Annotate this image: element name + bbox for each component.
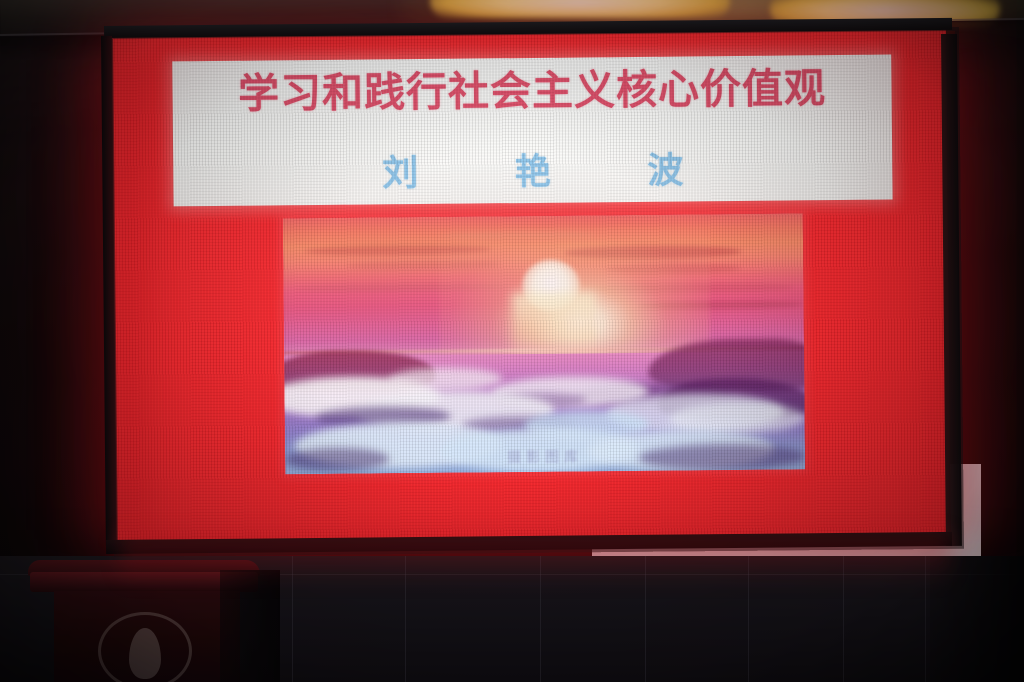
ceiling-light-left bbox=[430, 0, 730, 18]
led-display-screen[interactable]: 学习和践行社会主义核心价值观 刘 艳 波 bbox=[111, 28, 951, 544]
institution-flame-emblem bbox=[98, 612, 192, 682]
red-light-spill-left bbox=[40, 60, 150, 530]
lectern-shadow bbox=[220, 570, 280, 682]
slide-photo-frame: 摄影图库 bbox=[283, 213, 805, 474]
slide-title-panel: 学习和践行社会主义核心价值观 刘 艳 波 bbox=[172, 55, 892, 207]
slide-presenter-name: 刘 艳 波 bbox=[173, 140, 892, 199]
sunset-sea-of-clouds-image: 摄影图库 bbox=[283, 213, 805, 474]
slide-title: 学习和践行社会主义核心价值观 bbox=[172, 61, 891, 122]
red-light-spill-bottom bbox=[120, 535, 950, 585]
screenshot-stage: 学习和践行社会主义核心价值观 刘 艳 波 bbox=[0, 0, 1024, 682]
